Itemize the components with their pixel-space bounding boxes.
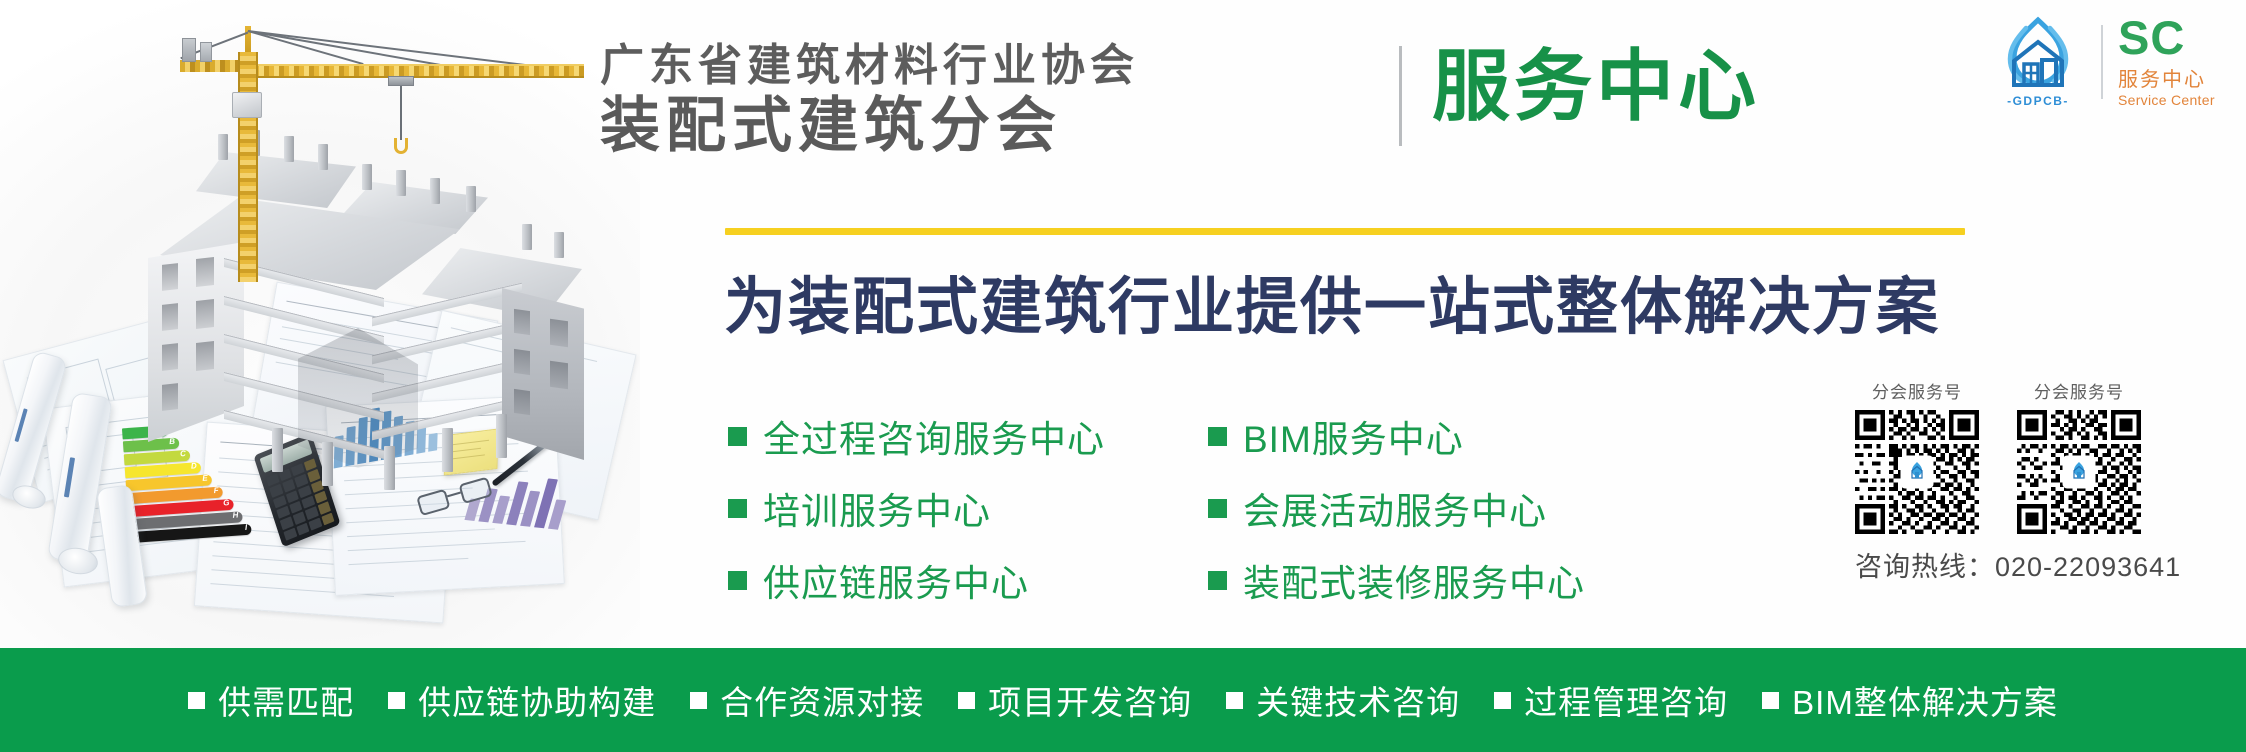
service-item-label: 培训服务中心 (763, 481, 991, 535)
qr-code-block: 分会服务号 (1855, 378, 2195, 584)
qr-code-cell: 分会服务号 (2017, 378, 2141, 534)
bullet-square-icon (188, 692, 205, 709)
qr-code-cell: 分会服务号 (1855, 378, 1979, 534)
service-item-label: 装配式装修服务中心 (1243, 553, 1585, 607)
service-item: 会展活动服务中心 (1208, 482, 1585, 534)
footer-item: 关键技术咨询 (1226, 676, 1460, 724)
service-item-label: 全过程咨询服务中心 (763, 409, 1105, 463)
qr-code-image[interactable] (1855, 410, 1979, 534)
crane-jib (254, 64, 584, 78)
tower-crane (176, 18, 596, 288)
service-item: 全过程咨询服务中心 (728, 410, 1105, 462)
bullet-square-icon (1208, 571, 1227, 590)
qr-code-caption: 分会服务号 (2017, 378, 2141, 403)
footer-item: 供应链协助构建 (388, 676, 656, 724)
footer-item: 供需匹配 (188, 676, 354, 724)
logo-chinese-label: 服务中心 (2118, 63, 2238, 92)
footer-item: 过程管理咨询 (1494, 676, 1728, 724)
hotline-text: 咨询热线：020-22093641 (1855, 545, 2195, 584)
footer-item-label: 合作资源对接 (720, 676, 924, 724)
logo-initials: SC (2118, 16, 2238, 59)
service-item: 装配式装修服务中心 (1208, 554, 1585, 606)
logo-divider (2101, 25, 2103, 99)
gdpcb-wordmark: -GDPCB- (1996, 94, 2080, 108)
bullet-square-icon (1208, 499, 1227, 518)
association-name-line1: 广东省建筑材料行业协会 (600, 42, 1340, 90)
footer-item: 项目开发咨询 (958, 676, 1192, 724)
service-column-right: BIM服务中心 会展活动服务中心 装配式装修服务中心 (1208, 410, 1585, 626)
gdpcb-logo-mark: -GDPCB- (1990, 16, 2086, 108)
bullet-square-icon (690, 692, 707, 709)
footer-items: 供需匹配 供应链协助构建 合作资源对接 项目开发咨询 关键技术咨询 过程管理咨询 (188, 676, 2058, 724)
service-column-left: 全过程咨询服务中心 培训服务中心 供应链服务中心 (728, 410, 1105, 626)
association-name-line2: 装配式建筑分会 (600, 94, 1340, 159)
logo-english-label: Service Center (2118, 92, 2238, 108)
bullet-square-icon (1762, 692, 1779, 709)
bullet-square-icon (958, 692, 975, 709)
service-item-label: BIM服务中心 (1243, 409, 1464, 463)
logo-text-group: SC 服务中心 Service Center (2118, 16, 2238, 107)
service-center-title: 服务中心 (1432, 44, 1760, 130)
gdpcb-mark-icon (1905, 460, 1929, 484)
gdpcb-flame-house-icon (1990, 16, 2086, 94)
crane-hoist-cable (400, 86, 402, 140)
crane-counterweight (182, 38, 196, 62)
service-item: 培训服务中心 (728, 482, 1105, 534)
crane-hook (394, 138, 408, 154)
footer-bar: 供需匹配 供应链协助构建 合作资源对接 项目开发咨询 关键技术咨询 过程管理咨询 (0, 648, 2246, 752)
service-item-label: 会展活动服务中心 (1243, 481, 1547, 535)
gdpcb-mark-icon (2067, 460, 2091, 484)
crane-operator-cab (232, 92, 262, 118)
footer-item-label: 过程管理咨询 (1524, 676, 1728, 724)
bullet-square-icon (728, 427, 747, 446)
footer-item-label: 关键技术咨询 (1256, 676, 1460, 724)
service-center-banner: A B C D E F G H I (0, 0, 2246, 752)
footer-item: 合作资源对接 (690, 676, 924, 724)
service-item: BIM服务中心 (1208, 410, 1585, 462)
qr-embedded-logo (2064, 457, 2094, 487)
bullet-square-icon (388, 692, 405, 709)
service-item: 供应链服务中心 (728, 554, 1105, 606)
service-item-label: 供应链服务中心 (763, 553, 1029, 607)
title-divider (1399, 46, 1402, 146)
construction-photo: A B C D E F G H I (0, 0, 640, 648)
footer-item: BIM整体解决方案 (1762, 676, 2058, 724)
tagline: 为装配式建筑行业提供一站式整体解决方案 (724, 256, 1940, 346)
qr-embedded-logo (1902, 457, 1932, 487)
footer-item-label: BIM整体解决方案 (1792, 676, 2058, 724)
crane-mast (238, 52, 258, 282)
footer-item-label: 供需匹配 (218, 676, 354, 724)
bullet-square-icon (728, 499, 747, 518)
crane-counterweight (200, 42, 212, 62)
association-name: 广东省建筑材料行业协会 装配式建筑分会 (600, 42, 1340, 158)
sc-logo: -GDPCB- SC 服务中心 Service Center (1990, 14, 2238, 110)
qr-code-caption: 分会服务号 (1855, 378, 1979, 403)
crane-trolley (388, 76, 414, 86)
footer-item-label: 项目开发咨询 (988, 676, 1192, 724)
footer-item-label: 供应链协助构建 (418, 676, 656, 724)
bullet-square-icon (1226, 692, 1243, 709)
gold-divider-rule (725, 228, 1965, 235)
qr-code-image[interactable] (2017, 410, 2141, 534)
bullet-square-icon (1208, 427, 1227, 446)
bullet-square-icon (1494, 692, 1511, 709)
bullet-square-icon (728, 571, 747, 590)
